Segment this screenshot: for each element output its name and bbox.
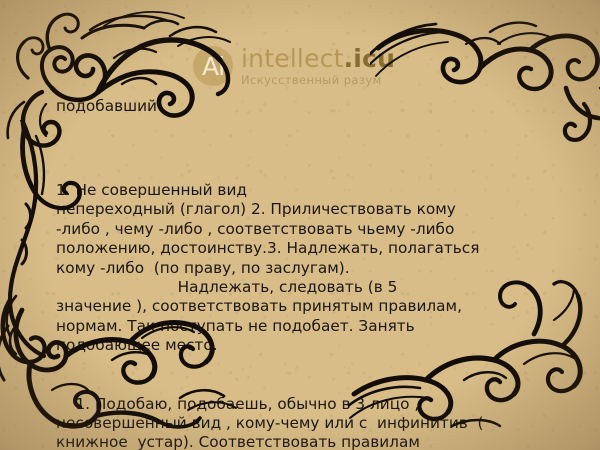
page-title: подобавший: [56, 97, 556, 116]
definition-paragraph-1: 1. Не совершенный вид непереходный (глаг…: [56, 181, 556, 356]
slide-canvas: Ai intellect.icu Искусственный разум под…: [0, 0, 600, 450]
slide-text-body: подобавший 1. Не совершенный вид неперех…: [56, 58, 556, 450]
definition-paragraph-2: 1. Подобаю, подобаешь, обычно в 3 лицо ,…: [56, 395, 556, 450]
